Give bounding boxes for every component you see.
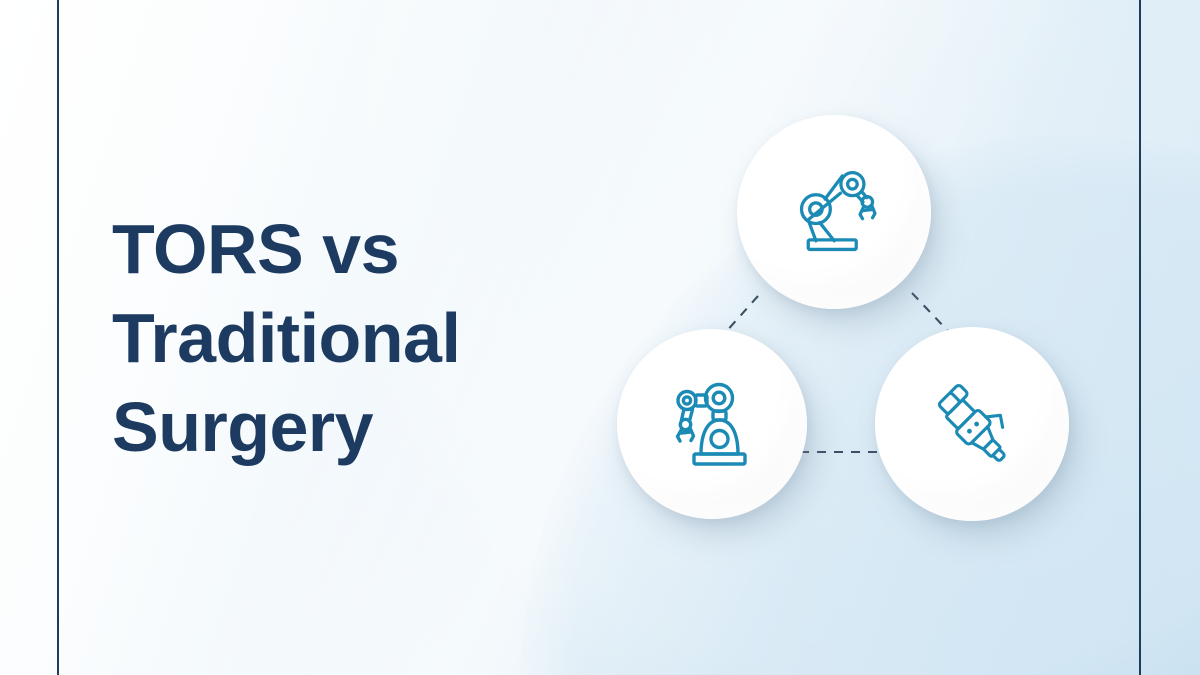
robot-arm-icon [790,164,886,260]
electrosurgical-pen-icon [928,380,1020,472]
diagram-node-surgical-pen[interactable] [875,327,1069,521]
diagram-node-robotic-arm-gantry[interactable] [737,115,931,309]
left-frame-rule [57,0,59,675]
right-frame-rule [1139,0,1141,675]
robot-arm-base-icon [663,376,763,476]
diagram-node-robotic-arm-base[interactable] [617,329,807,519]
slide-canvas: TORS vs Traditional Surgery [0,0,1200,675]
page-title: TORS vs Traditional Surgery [112,205,632,472]
diagram-cluster [600,100,1100,560]
